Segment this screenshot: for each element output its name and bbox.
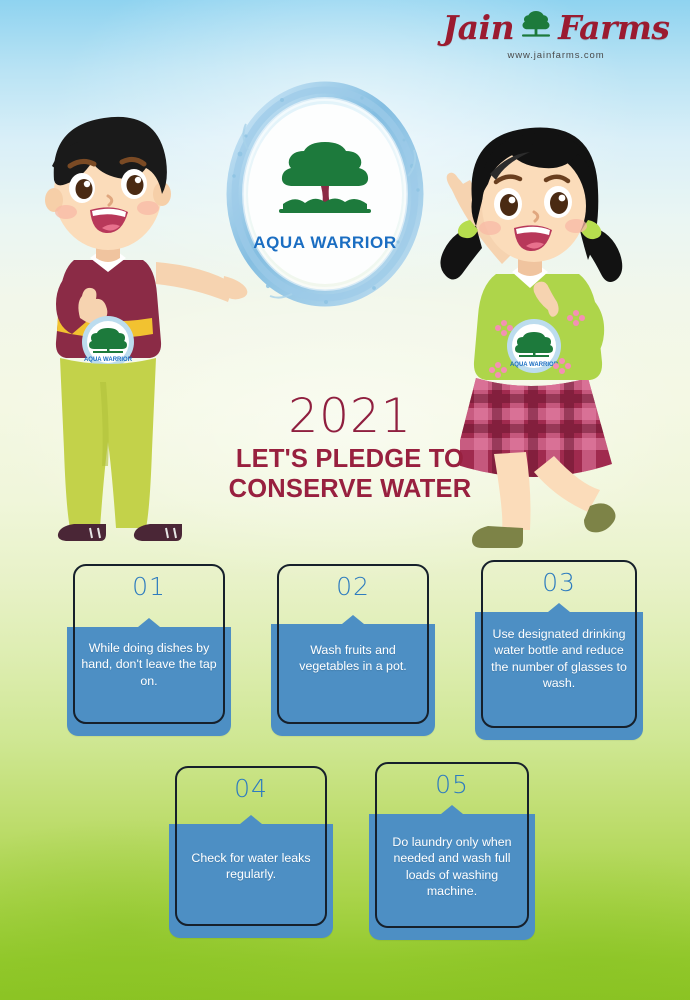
- tip-card-04[interactable]: 04 Check for water leaks regularly.: [175, 766, 327, 926]
- page-title: 2021 LET'S PLEDGE TO CONSERVE WATER: [200, 393, 500, 504]
- tip-text: Do laundry only when needed and wash ful…: [381, 834, 523, 900]
- tip-card-01[interactable]: 01 While doing dishes by hand, don't lea…: [73, 564, 225, 724]
- tip-number: 02: [277, 572, 429, 601]
- headline-line-1: LET'S PLEDGE TO: [200, 445, 500, 475]
- tree-icon: [516, 5, 556, 49]
- tip-text: Check for water leaks regularly.: [181, 850, 321, 883]
- brand-name-left: Jain: [443, 11, 515, 44]
- tip-text: Use designated drinking water bottle and…: [487, 626, 631, 692]
- medallion-label: AQUA WARRIOR: [253, 233, 397, 253]
- tip-number: 04: [175, 774, 327, 803]
- tip-text: While doing dishes by hand, don't leave …: [79, 640, 219, 689]
- tip-card-03[interactable]: 03 Use designated drinking water bottle …: [481, 560, 637, 728]
- headline-line-2: CONSERVE WATER: [200, 475, 500, 505]
- aqua-warrior-medallion: AQUA WARRIOR: [222, 80, 428, 310]
- tree-icon: [271, 136, 379, 227]
- infographic-poster: Jain Farms www.jainfarms.com: [0, 0, 690, 1000]
- brand-logo: Jain Farms www.jainfarms.com: [440, 6, 672, 61]
- brand-wordmark: Jain Farms: [440, 6, 672, 48]
- svg-text:AQUA WARRIOR: AQUA WARRIOR: [84, 357, 133, 363]
- tip-number: 05: [375, 770, 529, 799]
- medallion-disc: AQUA WARRIOR: [248, 104, 402, 284]
- tip-text: Wash fruits and vegetables in a pot.: [283, 642, 423, 675]
- headline-year: 2021: [200, 393, 500, 441]
- tip-card-05[interactable]: 05 Do laundry only when needed and wash …: [375, 762, 529, 928]
- tip-number: 01: [73, 572, 225, 601]
- brand-name-right: Farms: [558, 11, 669, 44]
- tip-number: 03: [481, 568, 637, 597]
- tip-card-02[interactable]: 02 Wash fruits and vegetables in a pot.: [277, 564, 429, 724]
- svg-text:AQUA WARRIOR: AQUA WARRIOR: [510, 362, 559, 368]
- brand-url: www.jainfarms.com: [440, 51, 672, 61]
